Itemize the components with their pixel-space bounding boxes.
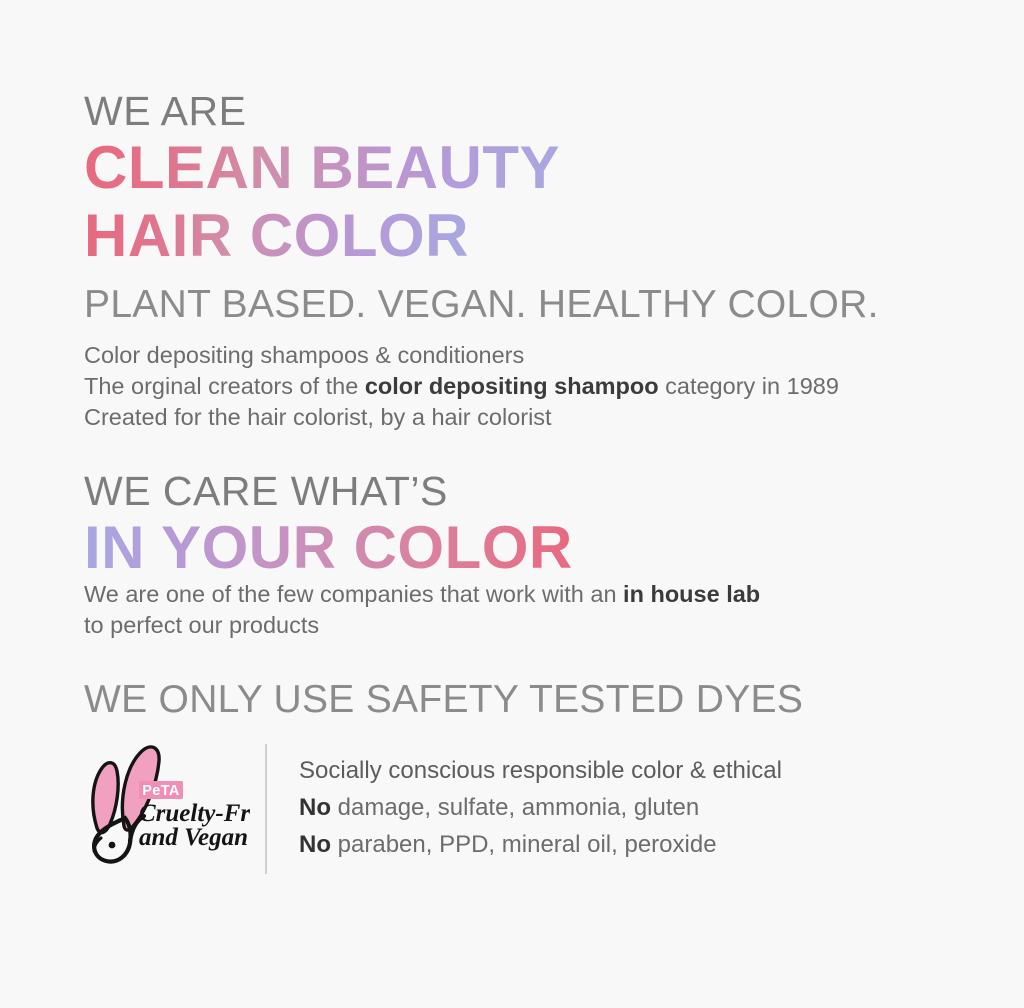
hero-headline-line-1: CLEAN BEAUTY [84, 135, 560, 201]
peta-wordmark: Cruelty-Free and Vegan [139, 800, 250, 851]
svg-text:PeTA: PeTA [142, 783, 180, 799]
hero-headline-line-2: HAIR COLOR [84, 203, 469, 269]
claim-item: No damage, sulfate, ammonia, gluten [299, 789, 782, 826]
care-eyebrow: WE CARE WHAT’S [84, 468, 984, 515]
claim-prefix: No [299, 831, 331, 858]
intro-line-3: Created for the hair colorist, by a hair… [84, 402, 984, 433]
intro-line-2-suffix: category in 1989 [659, 373, 839, 399]
care-line-2: to perfect our products [84, 610, 944, 641]
safety-heading: WE ONLY USE SAFETY TESTED DYES [84, 676, 803, 724]
intro-line-1: Color depositing shampoos & conditioners [84, 340, 984, 371]
vertical-divider [265, 744, 267, 874]
svg-text:and Vegan: and Vegan [139, 824, 248, 851]
care-paragraph: We are one of the few companies that wor… [84, 579, 944, 641]
intro-paragraph: Color depositing shampoos & conditioners… [84, 340, 984, 433]
intro-line-2-prefix: The orginal creators of the [84, 373, 365, 399]
hero-block: WE ARE CLEAN BEAUTY HAIR COLOR PLANT BAS… [84, 88, 984, 329]
claims-list: Socially conscious responsible color & e… [299, 752, 782, 863]
hero-subheadline: PLANT BASED. VEGAN. HEALTHY COLOR. [84, 281, 984, 329]
claim-item: No paraben, PPD, mineral oil, peroxide [299, 826, 782, 863]
claim-item: Socially conscious responsible color & e… [299, 752, 782, 789]
care-line-1-prefix: We are one of the few companies that wor… [84, 581, 623, 607]
care-line-1-emphasis: in house lab [623, 581, 760, 607]
peta-cruelty-free-logo: PeTA Cruelty-Free and Vegan [84, 742, 250, 874]
svg-text:Cruelty-Free: Cruelty-Free [139, 800, 250, 827]
hero-eyebrow: WE ARE [84, 88, 984, 135]
peta-badge: PeTA [139, 781, 183, 799]
care-headline: IN YOUR COLOR [84, 515, 573, 581]
care-line-1: We are one of the few companies that wor… [84, 579, 944, 610]
care-block: WE CARE WHAT’S IN YOUR COLOR [84, 468, 984, 581]
intro-line-2: The orginal creators of the color deposi… [84, 371, 984, 402]
certification-row: PeTA Cruelty-Free and Vegan Socially con… [84, 742, 964, 882]
brand-info-page: WE ARE CLEAN BEAUTY HAIR COLOR PLANT BAS… [0, 0, 1024, 1008]
claim-prefix: No [299, 794, 331, 821]
bunny-eye [109, 842, 116, 849]
intro-line-2-emphasis: color depositing shampoo [365, 373, 659, 399]
claim-text: damage, sulfate, ammonia, gluten [331, 794, 699, 821]
claim-text: paraben, PPD, mineral oil, peroxide [331, 831, 717, 858]
claim-text: Socially conscious responsible color & e… [299, 757, 782, 784]
